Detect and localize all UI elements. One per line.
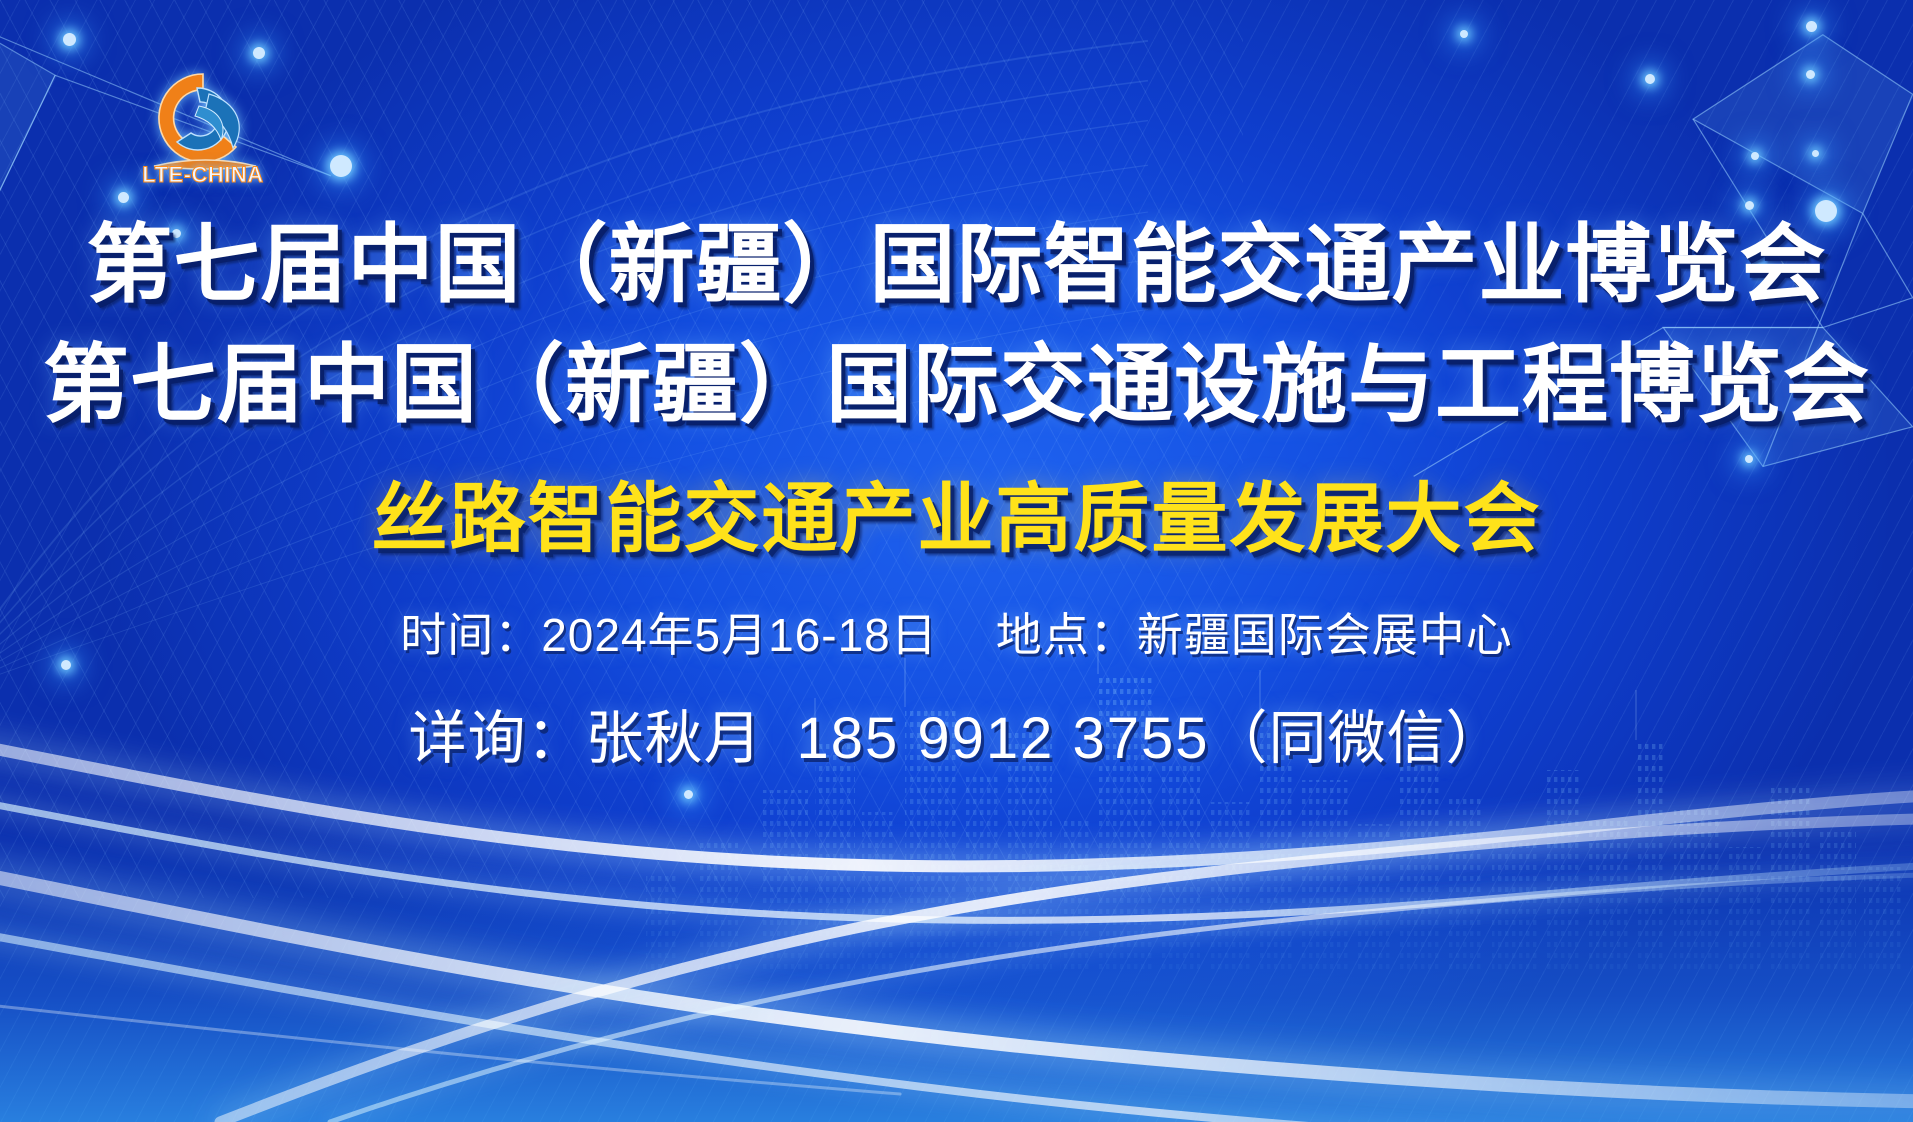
contact-line: 详询：张秋月185 9912 3755（同微信） (0, 710, 1913, 768)
lte-china-logo: LTE-CHINA (128, 62, 278, 212)
glow-node (61, 660, 71, 670)
contact-label: 详询： (408, 706, 585, 771)
event-meta-line: 时间：2024年5月16-18日地点：新疆国际会展中心 (0, 612, 1913, 658)
glow-node (684, 790, 693, 799)
contact-name: 张秋月 (585, 706, 762, 771)
glow-node (330, 155, 352, 177)
place-label: 地点： (996, 609, 1137, 661)
event-banner: LTE-CHINA 第七届中国（新疆）国际智能交通产业博览会 第七届中国（新疆）… (0, 0, 1913, 1122)
glow-node (1812, 150, 1819, 157)
city-skyline-silhouette (0, 612, 1913, 972)
glow-node (1745, 201, 1754, 210)
event-title-line-1: 第七届中国（新疆）国际智能交通产业博览会 (0, 222, 1913, 308)
glow-node (253, 47, 265, 59)
glow-node (1460, 30, 1468, 38)
place-value: 新疆国际会展中心 (1137, 609, 1513, 661)
time-value: 2024年5月16-18日 (541, 609, 938, 661)
glow-node (1751, 152, 1759, 160)
contact-note: （同微信） (1210, 706, 1505, 771)
glow-node (1645, 74, 1655, 84)
glow-node (1745, 455, 1753, 463)
bottom-light-wash (0, 822, 1913, 1122)
event-subtitle: 丝路智能交通产业高质量发展大会 (0, 482, 1913, 558)
glow-node (1806, 21, 1817, 32)
logo-wordmark: LTE-CHINA (128, 162, 278, 188)
time-label: 时间： (400, 609, 541, 661)
event-title-line-2: 第七届中国（新疆）国际交通设施与工程博览会 (0, 342, 1913, 428)
glow-node (1806, 70, 1815, 79)
contact-phone: 185 9912 3755 (796, 706, 1209, 771)
glow-node (63, 33, 76, 46)
